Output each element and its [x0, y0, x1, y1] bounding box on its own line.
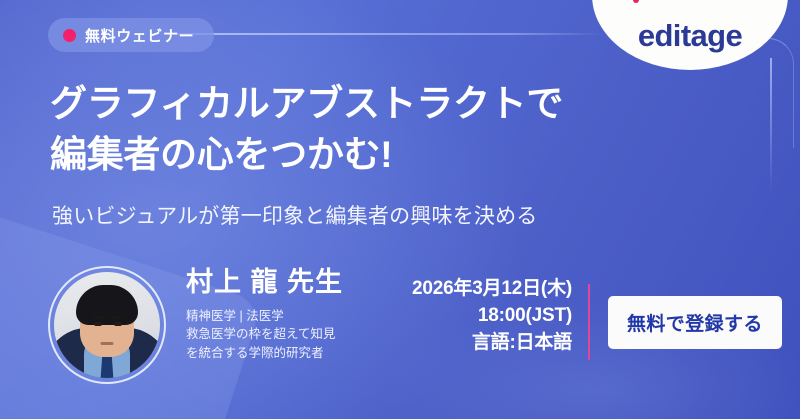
avatar	[48, 266, 166, 384]
decorative-horizontal-line	[175, 33, 605, 35]
logo-dot-icon	[633, 0, 639, 3]
presenter-description-line-1: 救急医学の枠を超えて知見	[186, 325, 382, 344]
presenter-fields: 精神医学 | 法医学	[186, 307, 382, 325]
register-button[interactable]: 無料で登録する	[608, 296, 782, 349]
cta-container: 無料で登録する	[608, 296, 782, 349]
webinar-promo-banner: editage 無料ウェビナー グラフィカルアブストラクトで 編集者の心をつかむ…	[0, 0, 800, 419]
live-dot-icon	[63, 29, 76, 42]
headline-block: グラフィカルアブストラクトで 編集者の心をつかむ!	[50, 78, 750, 180]
presenter-info: 村上 龍 先生 精神医学 | 法医学 救急医学の枠を超えて知見 を統合する学際的…	[186, 262, 382, 362]
editage-logo[interactable]: editage	[592, 0, 788, 70]
portrait-mouth	[101, 342, 114, 345]
presenter-name: 村上 龍 先生	[186, 268, 382, 298]
presenter-schedule-row: 村上 龍 先生 精神医学 | 法医学 救急医学の枠を超えて知見 を統合する学際的…	[48, 262, 790, 392]
schedule-block: 2026年3月12日(木) 18:00(JST) 言語:日本語	[396, 262, 572, 357]
portrait-hair	[76, 285, 138, 325]
avatar-photo	[54, 272, 160, 378]
decorative-vertical-line	[770, 58, 772, 192]
headline-line-1: グラフィカルアブストラクトで	[50, 78, 750, 129]
editage-logo-text: editage	[638, 20, 742, 51]
vertical-divider	[588, 284, 590, 360]
subheadline: 強いビジュアルが第一印象と編集者の興味を決める	[52, 200, 538, 230]
free-webinar-badge: 無料ウェビナー	[48, 18, 214, 52]
event-time: 18:00(JST)	[396, 303, 572, 330]
headline-line-2: 編集者の心をつかむ!	[50, 129, 750, 180]
presenter-description-line-2: を統合する学際的研究者	[186, 344, 382, 363]
event-language: 言語:日本語	[396, 330, 572, 357]
portrait-brow-left	[92, 316, 103, 319]
badge-label: 無料ウェビナー	[85, 25, 194, 46]
portrait-eye-left	[94, 322, 102, 326]
portrait-brow-right	[112, 316, 123, 319]
portrait-eye-right	[114, 322, 122, 326]
event-date: 2026年3月12日(木)	[396, 276, 572, 303]
